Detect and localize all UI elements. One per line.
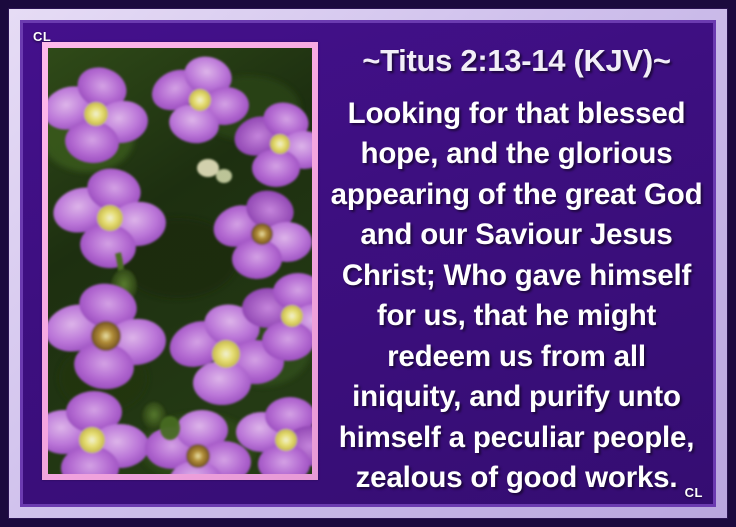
verse-body: Looking for that blessed hope, and the g… [326,94,707,499]
content-panel: CL [23,23,713,504]
flower-photo-artwork [48,48,312,474]
verse-title: ~Titus 2:13-14 (KJV)~ [362,45,670,78]
watermark-bottom-right: CL [685,485,703,500]
verse-text-column: ~Titus 2:13-14 (KJV)~ Looking for that b… [326,31,707,498]
flower-photo [48,48,312,474]
photo-frame [42,42,318,480]
verse-graphic: CL [0,0,736,527]
